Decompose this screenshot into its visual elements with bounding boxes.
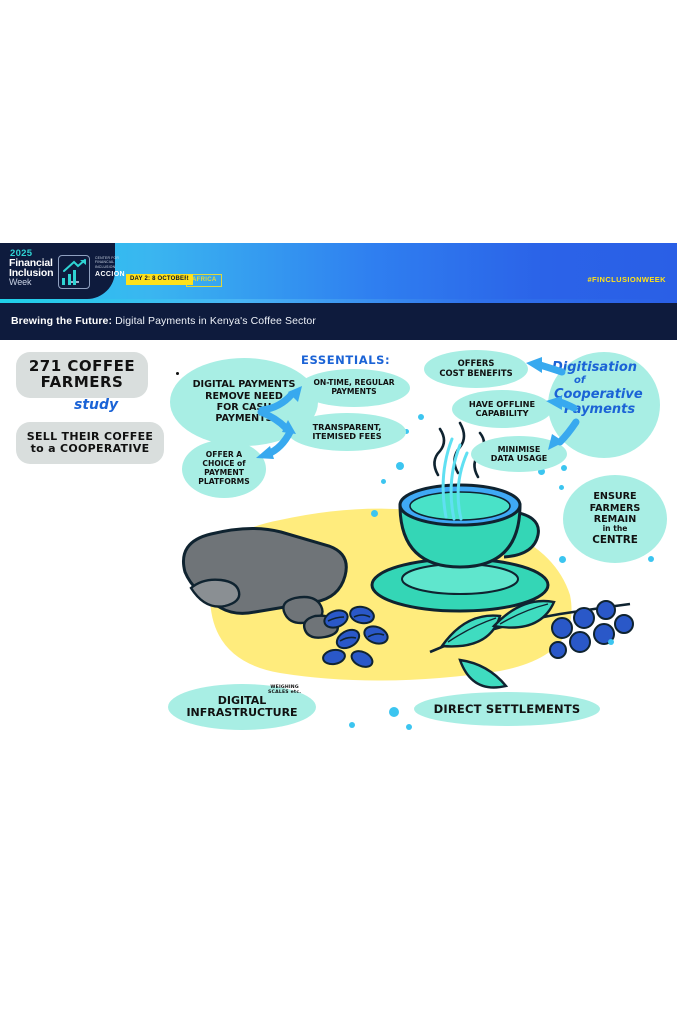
decor-dot (396, 462, 404, 470)
decor-dot (381, 479, 386, 484)
decor-dot (371, 510, 378, 517)
centre-line-1: ENSURE (590, 491, 641, 502)
decor-dot (406, 724, 412, 730)
bubble-farmers-centre: ENSURE FARMERS REMAIN in the CENTRE (563, 475, 667, 563)
digitisation-line-2: of (574, 375, 674, 387)
study-label: study (74, 397, 118, 413)
cooperative-tag: SELL THEIR COFFEE to a COOPERATIVE (16, 422, 164, 464)
arrow-to-platforms (252, 428, 296, 464)
decor-dot (349, 722, 355, 728)
benefit-2-line-2: CAPABILITY (469, 409, 535, 418)
centre-line-5: CENTRE (590, 534, 641, 546)
essential-2-line-2: ITEMISED FEES (312, 432, 381, 441)
page-title: Brewing the Future: Digital Payments in … (11, 315, 316, 327)
stat-tag-coffee-farmers: 271 COFFEE FARMERS (16, 352, 148, 398)
bubble-direct-settlements: DIRECT SETTLEMENTS (414, 692, 600, 726)
bubble-ontime-payments: ON-TIME, REGULAR PAYMENTS (298, 369, 410, 407)
benefit-3-line-2: DATA USAGE (491, 454, 548, 463)
decor-dot (608, 639, 614, 645)
teal-swoosh-lines (430, 435, 470, 525)
bubble-transparent-fees: TRANSPARENT, ITEMISED FEES (288, 413, 406, 451)
bullet-marker (176, 372, 179, 375)
decor-dot (559, 556, 566, 563)
fiw-logo: 2025 Financial Inclusion Week CENTER FOR… (0, 243, 115, 299)
stat-tag-line-2: FARMERS (29, 375, 135, 391)
page-title-rest: Digital Payments in Kenya's Coffee Secto… (112, 315, 316, 327)
centre-line-2: FARMERS (590, 503, 641, 514)
decor-dot (389, 707, 399, 717)
decor-dot (418, 414, 424, 420)
decor-dot (559, 485, 564, 490)
region-badge: AFRICA (186, 274, 222, 287)
centre-line-4: in the (590, 525, 641, 534)
arrow-to-cost-benefits (524, 354, 566, 382)
accion-line-3: INCLUSION (95, 265, 135, 269)
decor-dot (648, 556, 654, 562)
essentials-heading: ESSENTIALS: (301, 353, 390, 367)
bubble-cost-benefits: OFFERS COST BENEFITS (424, 350, 528, 388)
sketchnote-illustration: THANK YOU PAYMENT SUCCESSFUL CONTINUE SH… (0, 340, 677, 740)
infra-note: WEIGHING SCALES etc. (268, 685, 301, 696)
benefit-1-line-2: COST BENEFITS (439, 369, 512, 379)
day-badge: DAY 2: 8 OCTOBER (126, 274, 193, 285)
logo-line-week: Week (9, 277, 31, 287)
growth-arrow-icon (63, 259, 87, 272)
page-title-bold: Brewing the Future: (11, 315, 112, 327)
bubble-offline-capability: HAVE OFFLINE CAPABILITY (452, 390, 552, 428)
essential-1-line-2: PAYMENTS (313, 388, 394, 397)
settlements-label: DIRECT SETTLEMENTS (434, 702, 581, 716)
session-title-bar: Brewing the Future: Digital Payments in … (0, 303, 677, 340)
event-header-band: 2025 Financial Inclusion Week CENTER FOR… (0, 243, 677, 303)
digitisation-line-4: Payments (564, 402, 674, 417)
essential-3-line-4: PLATFORMS (198, 478, 249, 487)
event-hashtag: #FINCLUSIONWEEK (587, 275, 666, 284)
benefit-3-line-1: MINIMISE (491, 445, 548, 454)
arrow-to-offline (544, 394, 578, 418)
cooperative-tag-line-2: to a COOPERATIVE (27, 443, 153, 455)
decor-dot (561, 465, 567, 471)
digitisation-line-1: Digitisation (552, 360, 674, 375)
infra-line-2: INFRASTRUCTURE (186, 707, 297, 719)
coffee-branch-illustration (420, 580, 640, 690)
infra-note-line-2: SCALES etc. (268, 690, 301, 695)
arrow-to-data-usage (542, 418, 582, 454)
